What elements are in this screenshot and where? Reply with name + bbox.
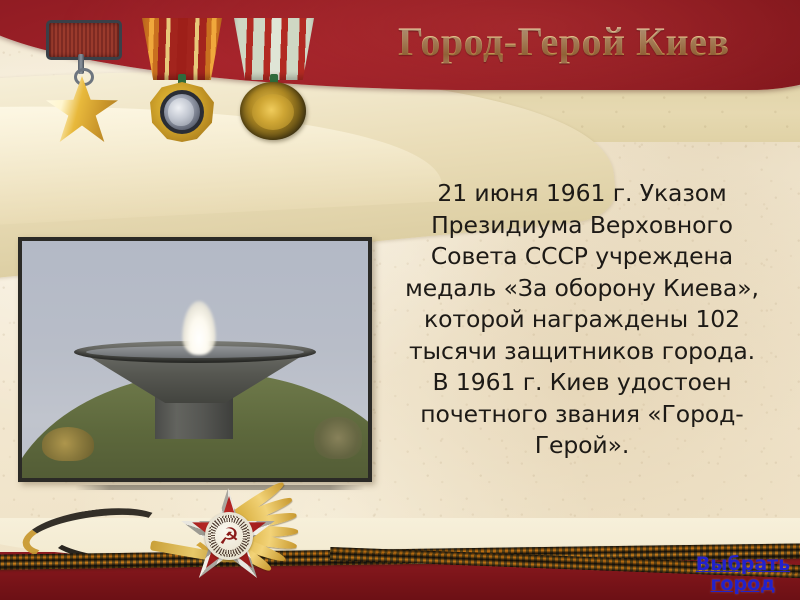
hammer-and-sickle-icon: ☭ xyxy=(217,524,241,548)
lenin-portrait-icon xyxy=(168,98,194,126)
photo-bush-right xyxy=(314,417,362,459)
order-of-lenin-icon xyxy=(136,18,228,142)
october-revolution-ribbon xyxy=(234,18,314,80)
eternal-flame-photo xyxy=(18,237,372,482)
october-revolution-inner-disc xyxy=(252,94,294,130)
gold-star-medal-icon xyxy=(36,18,132,142)
gold-star-shape xyxy=(46,76,118,142)
body-paragraph: 21 июня 1961 г. Указом Президиума Верхов… xyxy=(398,178,766,462)
select-city-link[interactable]: Выбрать город xyxy=(694,554,792,594)
order-of-lenin-ribbon xyxy=(142,18,222,80)
gold-star-ribbon-bar xyxy=(46,20,122,60)
order-of-october-revolution-icon xyxy=(228,18,320,142)
slide-root: Город-Герой Киев xyxy=(0,0,800,600)
photo-bush-left xyxy=(42,427,94,461)
medals-group xyxy=(28,18,318,142)
order-of-patriotic-war-icon: ☭ xyxy=(140,486,370,578)
page-title: Город-Герой Киев xyxy=(398,18,800,65)
